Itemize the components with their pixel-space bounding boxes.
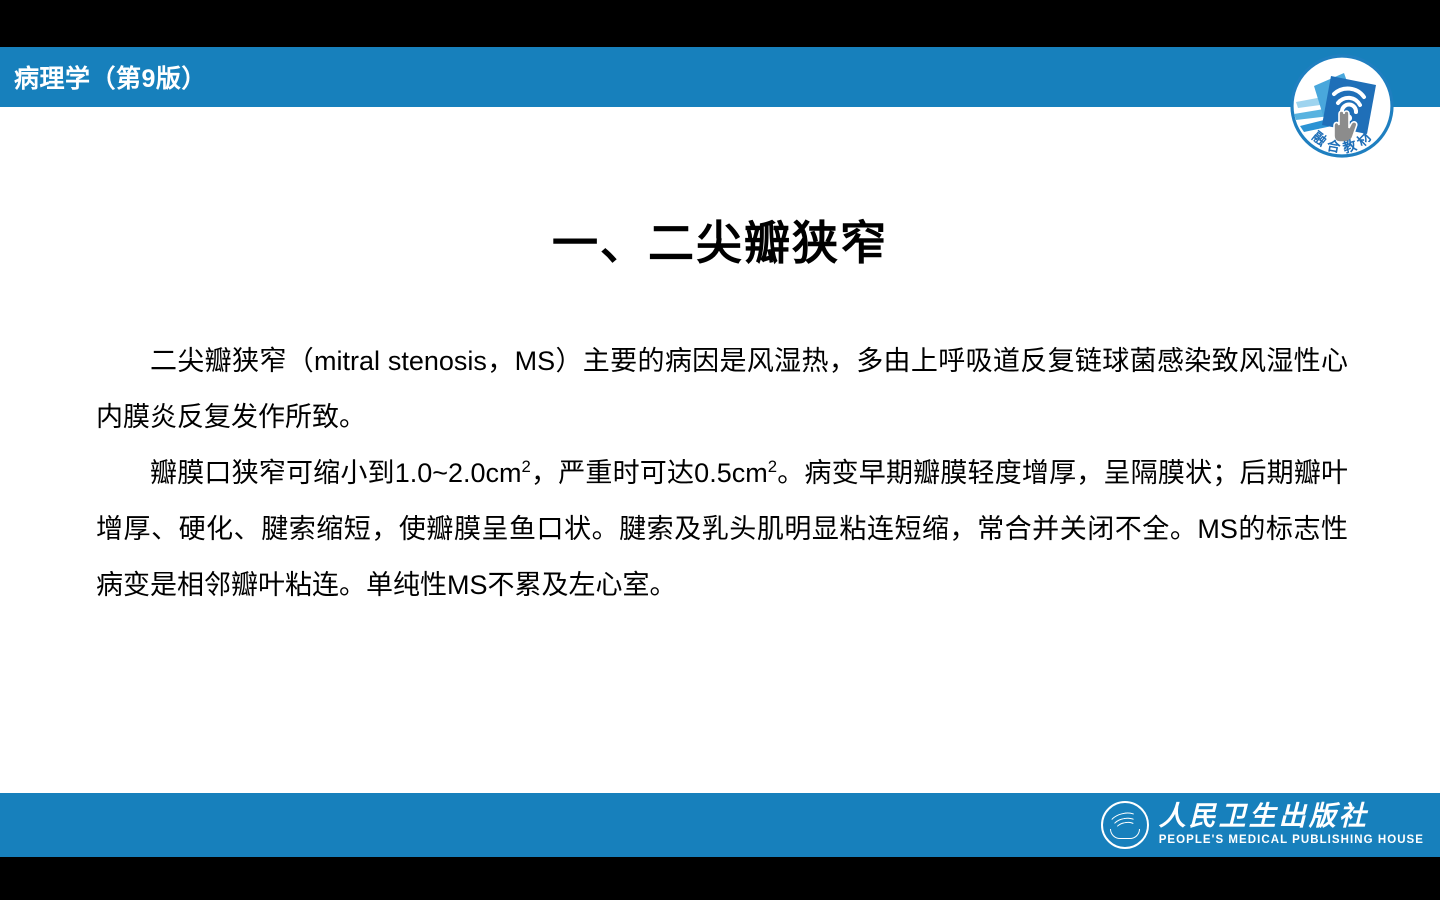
page-title: 一、二尖瓣狭窄	[0, 207, 1440, 273]
header-title: 病理学（第9版）	[14, 59, 207, 95]
slide-canvas: 病理学（第9版）	[0, 0, 1440, 900]
publisher-name-cn: 人民卫生出版社	[1159, 803, 1369, 830]
paragraph-2: 瓣膜口狭窄可缩小到1.0~2.0cm2，严重时可达0.5cm2。病变早期瓣膜轻度…	[96, 445, 1348, 613]
paragraph-1: 二尖瓣狭窄（mitral stenosis，MS）主要的病因是风湿热，多由上呼吸…	[96, 333, 1348, 445]
body-content: 二尖瓣狭窄（mitral stenosis，MS）主要的病因是风湿热，多由上呼吸…	[96, 333, 1348, 613]
para2-sup2: 2	[768, 457, 777, 476]
para2-sup1: 2	[522, 457, 531, 476]
para2-part2: ，严重时可达0.5cm	[531, 458, 768, 488]
publisher-name-block: 人民卫生出版社 PEOPLE'S MEDICAL PUBLISHING HOUS…	[1159, 803, 1424, 847]
publisher-emblem-icon	[1101, 801, 1149, 849]
fusion-textbook-badge-icon: 融合教材	[1288, 52, 1396, 160]
publisher-logo: 人民卫生出版社 PEOPLE'S MEDICAL PUBLISHING HOUS…	[1101, 801, 1424, 849]
para2-part1: 瓣膜口狭窄可缩小到1.0~2.0cm	[150, 458, 522, 488]
footer-band: 人民卫生出版社 PEOPLE'S MEDICAL PUBLISHING HOUS…	[0, 793, 1440, 857]
letterbox-bottom	[0, 857, 1440, 900]
letterbox-top	[0, 0, 1440, 47]
header-band: 病理学（第9版）	[0, 47, 1440, 107]
publisher-name-en: PEOPLE'S MEDICAL PUBLISHING HOUSE	[1159, 835, 1424, 847]
